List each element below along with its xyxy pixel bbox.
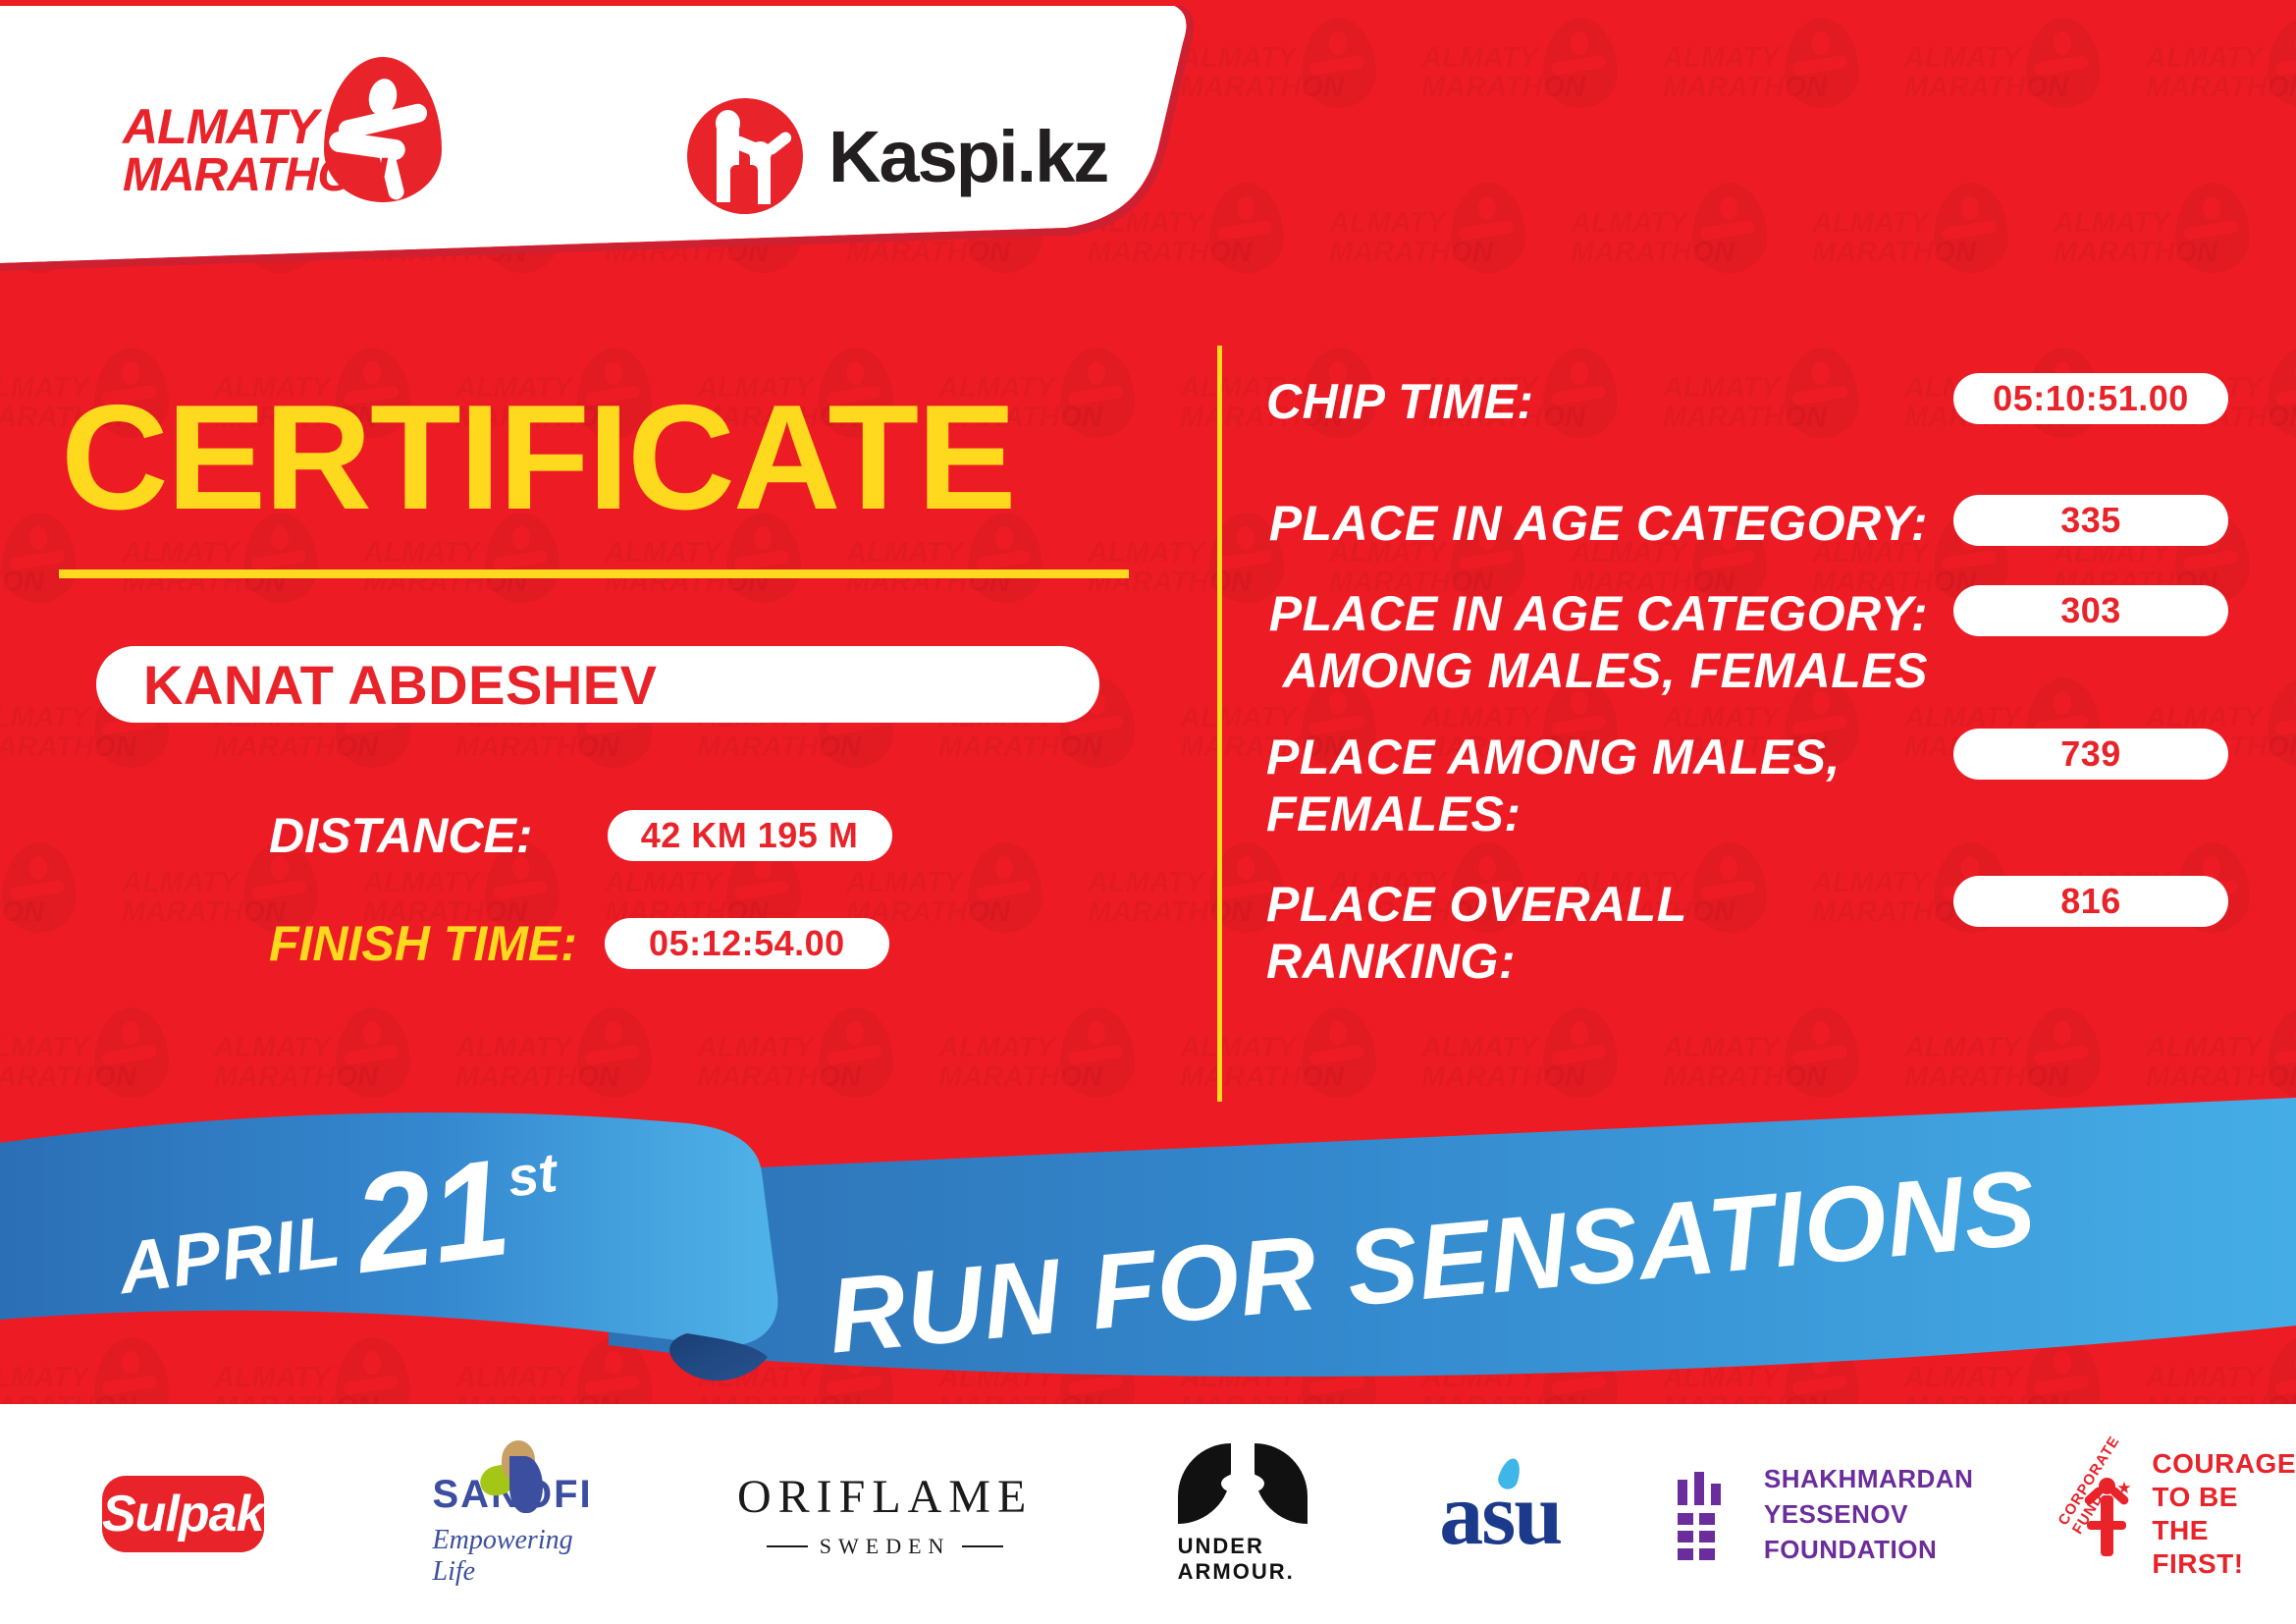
yessenov-line2: FOUNDATION (1764, 1535, 1937, 1564)
oriflame-wordmark: ORIFLAME (737, 1470, 1033, 1524)
header-band: ALMATY MARATHON Kaspi.kz (0, 0, 1374, 280)
place-age-category-label-line1: PLACE IN AGE CATEGORY: (1269, 496, 1928, 551)
results-list: CHIP TIME: 05:10:51.00 PLACE IN AGE CATE… (1266, 373, 2228, 990)
courage-line1: COURAGE (2152, 1448, 2296, 1479)
place-age-category-gender-label: PLACE IN AGE CATEGORY: AMONG MALES, FEMA… (1266, 585, 1940, 699)
watermark-tile: ALMATYMARATHON (1661, 0, 1902, 165)
sponsor-logo-sanofi: SANOFI Empowering Life (433, 1440, 593, 1588)
place-overall-row: PLACE OVERALL RANKING: 816 (1266, 876, 2228, 990)
sponsor-logo-oriflame: ORIFLAME SWEDEN (738, 1470, 1033, 1559)
distance-value-pill: 42 KM 195 M (608, 810, 892, 861)
logo-line-1: ALMATY (123, 99, 318, 154)
sponsor-logo-sulpak: Sulpak (102, 1476, 264, 1552)
courage-fund-mark-icon: CORPORATE FUND ★ (2057, 1460, 2142, 1568)
asu-wordmark: asu (1439, 1464, 1561, 1565)
place-among-gender-value-pill: 739 (1953, 729, 2228, 780)
under-armour-wordmark: UNDER ARMOUR. (1178, 1534, 1308, 1585)
place-among-gender-value: 739 (2060, 733, 2121, 775)
courage-line2: TO BE (2152, 1482, 2238, 1512)
place-among-gender-row: PLACE AMONG MALES, FEMALES: 739 (1266, 729, 2228, 842)
place-age-category-value: 335 (2060, 500, 2121, 541)
place-among-gender-label: PLACE AMONG MALES, FEMALES: (1266, 729, 1940, 842)
title-underline (59, 569, 1129, 578)
almaty-marathon-wordmark: ALMATY MARATHON (123, 102, 325, 200)
chip-time-label-line1: CHIP TIME: (1266, 374, 1534, 429)
place-overall-value-pill: 816 (1953, 876, 2228, 927)
finish-time-value-pill: 05:12:54.00 (605, 918, 889, 969)
place-overall-label-line1: PLACE OVERALL RANKING: (1266, 877, 1686, 989)
place-among-gender-label-line1: PLACE AMONG MALES, (1266, 730, 1841, 785)
event-month: APRIL (114, 1198, 346, 1310)
place-among-gender-label-line2: FEMALES: (1266, 785, 1940, 842)
distance-label: DISTANCE: (269, 807, 533, 864)
event-day: 21 (347, 1142, 516, 1290)
page-title: CERTIFICATE (61, 383, 1131, 532)
place-age-category-gender-label-line2: AMONG MALES, FEMALES (1266, 642, 1928, 699)
event-day-suffix: st (504, 1140, 561, 1210)
watermark-tile: ALMATYMARATHON (1569, 165, 1810, 330)
courage-fund-wordmark: COURAGE TO BE THE FIRST! (2152, 1447, 2296, 1581)
logo-line-2: MARATHON (123, 151, 325, 200)
under-armour-mark-icon (1178, 1443, 1308, 1524)
yessenov-line1: SHAKHMARDAN YESSENOV (1764, 1464, 1974, 1529)
kaspi-logo: Kaspi.kz (687, 98, 1107, 214)
oriflame-sub: SWEDEN (767, 1534, 1004, 1559)
watermark-tile: ALMATYMARATHON (1419, 0, 1661, 165)
watermark-tile: ALMATYMARATHON (0, 825, 120, 990)
finish-time-row: FINISH TIME: 05:12:54.00 (269, 915, 889, 972)
oriflame-rule-right (962, 1545, 1003, 1547)
watermark-tile: ALMATYMARATHON (2144, 0, 2296, 165)
sulpak-wordmark: Sulpak (102, 1485, 264, 1543)
athlete-name-value: KANAT ABDESHEV (143, 653, 657, 717)
yessenov-wordmark: SHAKHMARDAN YESSENOV FOUNDATION (1764, 1461, 1974, 1567)
kaspi-wordmark: Kaspi.kz (828, 115, 1107, 198)
chip-time-value-pill: 05:10:51.00 (1953, 373, 2228, 424)
place-age-category-gender-label-line1: PLACE IN AGE CATEGORY: (1269, 586, 1928, 641)
chip-time-label: CHIP TIME: (1266, 373, 1940, 430)
athlete-name-field: KANAT ABDESHEV (96, 646, 1099, 723)
place-age-category-value-pill: 335 (1953, 495, 2228, 546)
place-age-category-gender-row: PLACE IN AGE CATEGORY: AMONG MALES, FEMA… (1266, 585, 2228, 699)
watermark-tile: ALMATYMARATHON (2052, 165, 2293, 330)
chip-time-row: CHIP TIME: 05:10:51.00 (1266, 373, 2228, 430)
finish-time-label: FINISH TIME: (269, 915, 577, 972)
sponsor-logo-asu: asu (1439, 1464, 1562, 1565)
place-overall-label: PLACE OVERALL RANKING: (1266, 876, 1940, 990)
certificate-canvas: ALMATYMARATHONALMATYMARATHONALMATYMARATH… (0, 0, 2296, 1624)
sanofi-tagline: Empowering Life (433, 1525, 593, 1588)
yessenov-mark-icon (1678, 1472, 1742, 1556)
place-age-category-gender-value: 303 (2060, 590, 2121, 631)
place-age-category-row: PLACE IN AGE CATEGORY: 335 (1266, 495, 2228, 552)
oriflame-country: SWEDEN (820, 1534, 951, 1559)
watermark-tile: ALMATYMARATHON (1810, 165, 2052, 330)
top-accent-line (0, 0, 2296, 6)
sponsor-logo-courage-fund: CORPORATE FUND ★ COURAGE TO BE THE FIRST… (2057, 1447, 2296, 1581)
column-divider (1217, 346, 1222, 1102)
watermark-tile: ALMATYMARATHON (1902, 0, 2144, 165)
place-age-category-label: PLACE IN AGE CATEGORY: (1266, 495, 1940, 552)
courage-line3: THE FIRST! (2152, 1515, 2243, 1579)
kaspi-people-circle-icon (687, 98, 803, 214)
distance-row: DISTANCE: 42 KM 195 M (269, 807, 892, 864)
sanofi-mark-icon (470, 1440, 555, 1469)
sponsor-logo-under-armour: UNDER ARMOUR. (1178, 1443, 1308, 1585)
chip-time-value: 05:10:51.00 (1993, 378, 2189, 419)
sponsor-bar: Sulpak SANOFI Empowering Life ORIFLAME S… (0, 1404, 2296, 1624)
distance-value: 42 KM 195 M (641, 815, 859, 856)
place-overall-value: 816 (2060, 881, 2121, 922)
oriflame-rule-left (767, 1545, 808, 1547)
finish-time-value: 05:12:54.00 (649, 923, 845, 964)
sponsor-logo-yessenov-foundation: SHAKHMARDAN YESSENOV FOUNDATION (1678, 1461, 1974, 1567)
place-age-category-gender-value-pill: 303 (1953, 585, 2228, 636)
almaty-marathon-logo: ALMATY MARATHON (123, 57, 447, 194)
